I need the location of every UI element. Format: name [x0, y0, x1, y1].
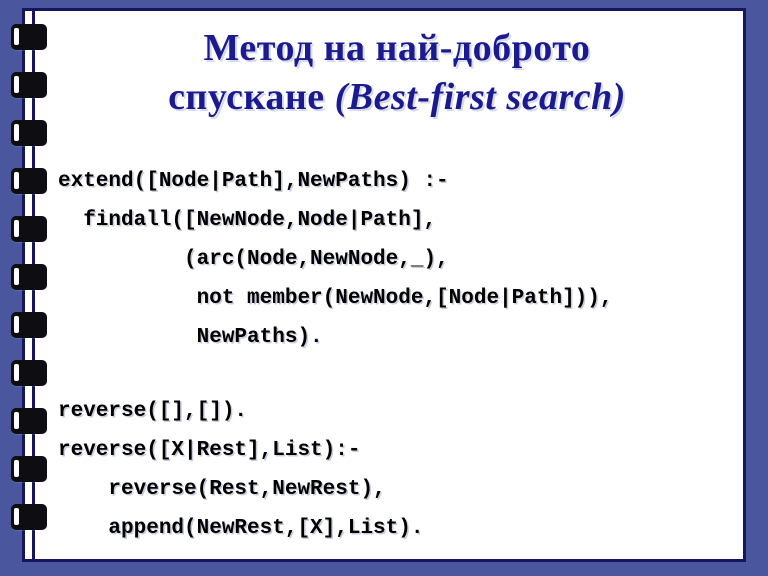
- code-line: reverse(Rest,NewRest),: [58, 470, 734, 509]
- code-line: extend([Node|Path],NewPaths) :-: [58, 162, 734, 201]
- code-line: (arc(Node,NewNode,_),: [58, 240, 734, 279]
- title-line-2: спускане (Best-first search): [60, 73, 734, 122]
- title-line-2-bulgarian: спускане: [168, 76, 335, 118]
- code-line: append(NewRest,[X],List).: [58, 509, 734, 548]
- code-block-reverse: reverse([],[]).reverse([X|Rest],List):- …: [58, 392, 734, 548]
- code-block-extend: extend([Node|Path],NewPaths) :- findall(…: [58, 162, 734, 357]
- slide-title: Метод на най-доброто спускане (Best-firs…: [60, 24, 734, 122]
- code-line: reverse([],[]).: [58, 392, 734, 431]
- presentation-slide: Метод на най-доброто спускане (Best-firs…: [0, 0, 768, 576]
- title-line-1: Метод на най-доброто: [60, 24, 734, 73]
- code-line: NewPaths).: [58, 318, 734, 357]
- code-line: reverse([X|Rest],List):-: [58, 431, 734, 470]
- code-line: findall([NewNode,Node|Path],: [58, 201, 734, 240]
- code-line: not member(NewNode,[Node|Path])),: [58, 279, 734, 318]
- title-line-2-english: (Best-first search): [335, 76, 626, 118]
